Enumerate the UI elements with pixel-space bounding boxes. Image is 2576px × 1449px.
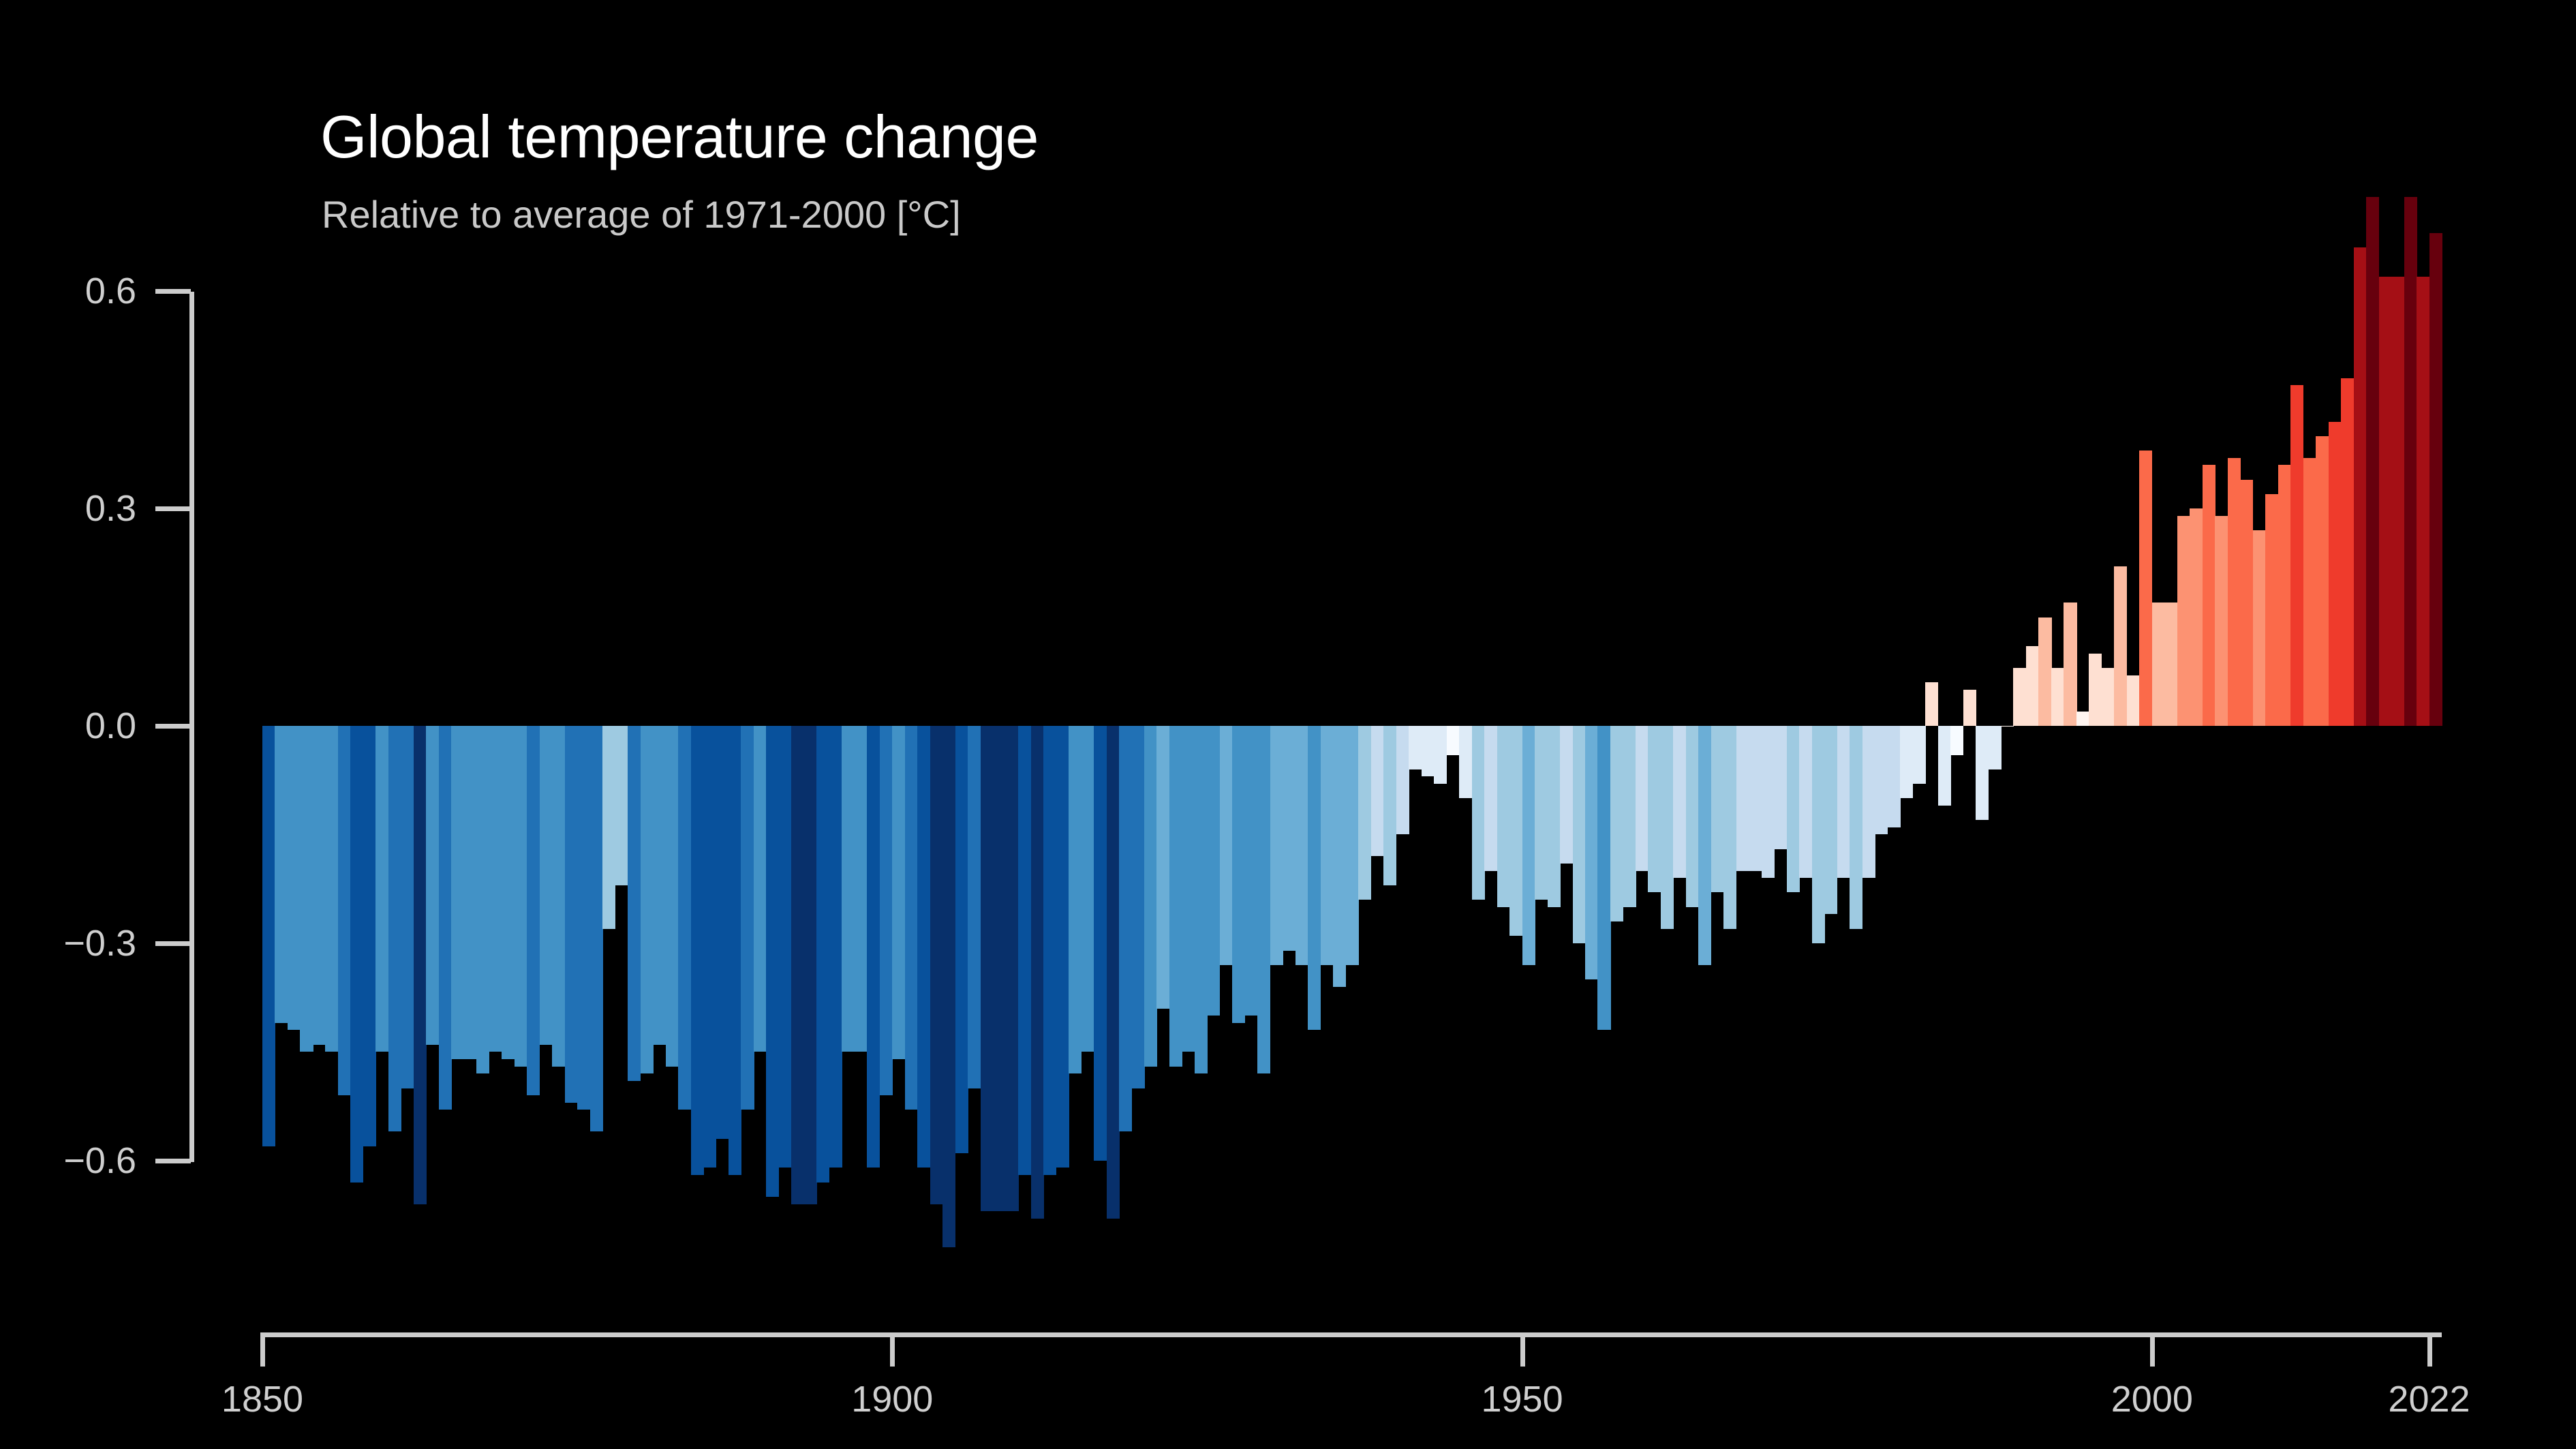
bar [716,726,729,1139]
bar [754,726,767,1052]
bar [375,726,388,1052]
bar [1107,726,1120,1219]
bar [1950,726,1963,755]
bar [1762,726,1775,878]
bar [540,726,553,1045]
bar [1673,726,1686,878]
bar [1144,726,1157,1067]
x-axis-tick [260,1332,265,1367]
bar [313,726,326,1045]
bar [2341,378,2354,726]
bar [338,726,351,1095]
bar [1484,726,1497,871]
bar [426,726,439,1045]
bar [678,726,691,1110]
bar [791,726,804,1204]
bar [1094,726,1107,1161]
bar [993,726,1006,1211]
x-axis-tick-label: 1900 [851,1378,933,1420]
x-axis-tick [1520,1332,1525,1367]
bar [1434,726,1447,784]
bar [653,726,666,1045]
bar [1723,726,1736,929]
x-axis-tick-label: 2022 [2388,1378,2470,1420]
bar [502,726,515,1059]
bar [1018,726,1031,1175]
bar [2303,458,2316,726]
bar [1333,726,1346,987]
bar [2139,451,2152,726]
bar [1698,726,1711,965]
bar [1736,726,1749,871]
bar [804,726,817,1204]
bar [1245,726,1258,1016]
bar [275,726,288,1023]
y-axis-tick-label: 0.3 [0,487,136,530]
bar [1548,726,1561,907]
bar [1043,726,1056,1175]
bar [1850,726,1862,929]
x-axis-tick [2150,1332,2155,1367]
bar [1295,726,1308,965]
bar [2001,726,2014,727]
y-axis-tick-label: 0.0 [0,705,136,747]
bar [1787,726,1800,892]
bar [2203,465,2215,726]
bar [1661,726,1674,929]
bar [703,726,716,1168]
bar [1522,726,1535,965]
bar [2429,233,2442,726]
bar [489,726,502,1052]
bar [1686,726,1699,907]
bar [1283,726,1295,951]
bar [1031,726,1044,1219]
bar [1321,726,1334,965]
bar [2215,516,2228,726]
bar [1383,726,1396,885]
bar [1346,726,1359,965]
bar [779,726,792,1168]
bar [1396,726,1409,834]
bar [1182,726,1195,1052]
y-axis-tick [155,941,191,946]
bar [942,726,955,1247]
bar [1409,726,1422,769]
bar [905,726,918,1110]
bar [1132,726,1145,1088]
bar [1472,726,1485,900]
y-axis-tick-label: −0.6 [0,1140,136,1182]
bar [666,726,679,1067]
bar [602,726,615,929]
bar [1636,726,1649,871]
bar [729,726,741,1175]
bar [2417,277,2429,726]
bar [1875,726,1888,834]
chart-page: Global temperature change Relative to av… [0,0,2576,1449]
bar-series [0,0,2576,1449]
bar [2089,654,2102,726]
bar [2076,712,2089,726]
bar [842,726,855,1052]
bar [552,726,565,1067]
bar [2290,385,2303,726]
bar [2379,277,2392,726]
bar [1989,726,2002,769]
bar [565,726,578,1103]
bar [2127,675,2140,726]
bar [2253,530,2266,726]
bar [1056,726,1069,1168]
bar [1358,726,1371,900]
y-axis-tick [155,506,191,511]
bar [2265,494,2278,726]
bar [1862,726,1875,878]
bar [741,726,754,1110]
bar [1270,726,1283,965]
bar [350,726,363,1183]
bar [930,726,943,1204]
bar [1938,726,1951,806]
bar [2114,566,2127,726]
bar [1837,726,1850,878]
x-axis-spine [262,1332,2442,1337]
y-axis-tick [155,1159,191,1163]
bar [1888,726,1901,827]
plot-area: 0.60.30.0−0.3−0.6 18501900195020002022 [0,0,2576,1449]
y-axis-tick [155,724,191,729]
bar [1711,726,1724,892]
bar [2329,422,2342,726]
bar [2228,458,2241,726]
bar [2404,197,2417,726]
bar [388,726,401,1131]
bar [1913,726,1926,784]
bar [628,726,641,1081]
bar [1156,726,1169,1009]
bar [1497,726,1510,907]
bar [1610,726,1623,921]
bar [981,726,994,1211]
bar [401,726,414,1088]
bar [2152,603,2165,726]
bar [1535,726,1548,900]
bar [1900,726,1913,798]
bar [262,726,275,1146]
bar [2038,617,2051,726]
bar [1308,726,1321,1030]
bar [855,726,868,1052]
bar [1925,682,1938,726]
bar [527,726,540,1095]
bar [1459,726,1472,798]
bar [1774,726,1787,849]
x-axis-tick-label: 1950 [1481,1378,1563,1420]
bar [1232,726,1245,1023]
bar [1371,726,1384,856]
bar [1749,726,1762,871]
bar [2051,668,2064,726]
bar [2240,480,2253,726]
x-axis-tick [2427,1332,2432,1367]
bar [867,726,880,1168]
bar [892,726,905,1059]
bar [1812,726,1825,943]
bar [1257,726,1270,1073]
bar [1509,726,1522,936]
bar [615,726,628,885]
bar [1963,690,1976,726]
bar [451,726,464,1059]
bar [325,726,338,1052]
bar [1169,726,1182,1067]
bar [2064,603,2076,726]
y-axis-tick [155,289,191,294]
bar [1560,726,1573,864]
bar [439,726,452,1110]
bar [691,726,704,1175]
bar [1447,726,1460,755]
x-axis-tick [890,1332,895,1367]
bar [1207,726,1220,1016]
bar [300,726,313,1052]
bar [464,726,477,1059]
bar [1573,726,1586,943]
bar [515,726,527,1067]
bar [766,726,779,1197]
bar [2354,247,2367,726]
bar [363,726,376,1146]
bar [2278,465,2291,726]
bar [1824,726,1837,914]
bar [1623,726,1636,907]
bar [816,726,829,1183]
x-axis-tick-label: 1850 [221,1378,303,1420]
bar [2316,436,2329,726]
bar [968,726,981,1088]
bar [476,726,489,1073]
bar [2190,508,2203,726]
bar [1069,726,1082,1073]
bar [2102,668,2115,726]
bar [1585,726,1598,979]
bar [2177,516,2190,726]
bar [590,726,603,1131]
bar [1976,726,1989,820]
y-axis-tick-label: 0.6 [0,270,136,312]
bar [1422,726,1435,776]
bar [2013,668,2026,726]
bar [2164,603,2177,726]
bar [1799,726,1812,878]
y-axis-tick-label: −0.3 [0,922,136,964]
bar [880,726,893,1095]
x-axis-tick-label: 2000 [2111,1378,2193,1420]
bar [2391,277,2404,726]
bar [1220,726,1233,965]
bar [1597,726,1610,1030]
bar [414,726,427,1204]
bar [2366,197,2379,726]
bar [641,726,654,1073]
bar [288,726,301,1030]
bar [1006,726,1019,1211]
bar [1119,726,1132,1131]
bar [955,726,968,1153]
bar [2026,646,2039,726]
bar [1648,726,1661,892]
bar [829,726,842,1168]
bar [577,726,590,1110]
bar [1195,726,1208,1073]
bar [1082,726,1094,1052]
bar [917,726,930,1168]
